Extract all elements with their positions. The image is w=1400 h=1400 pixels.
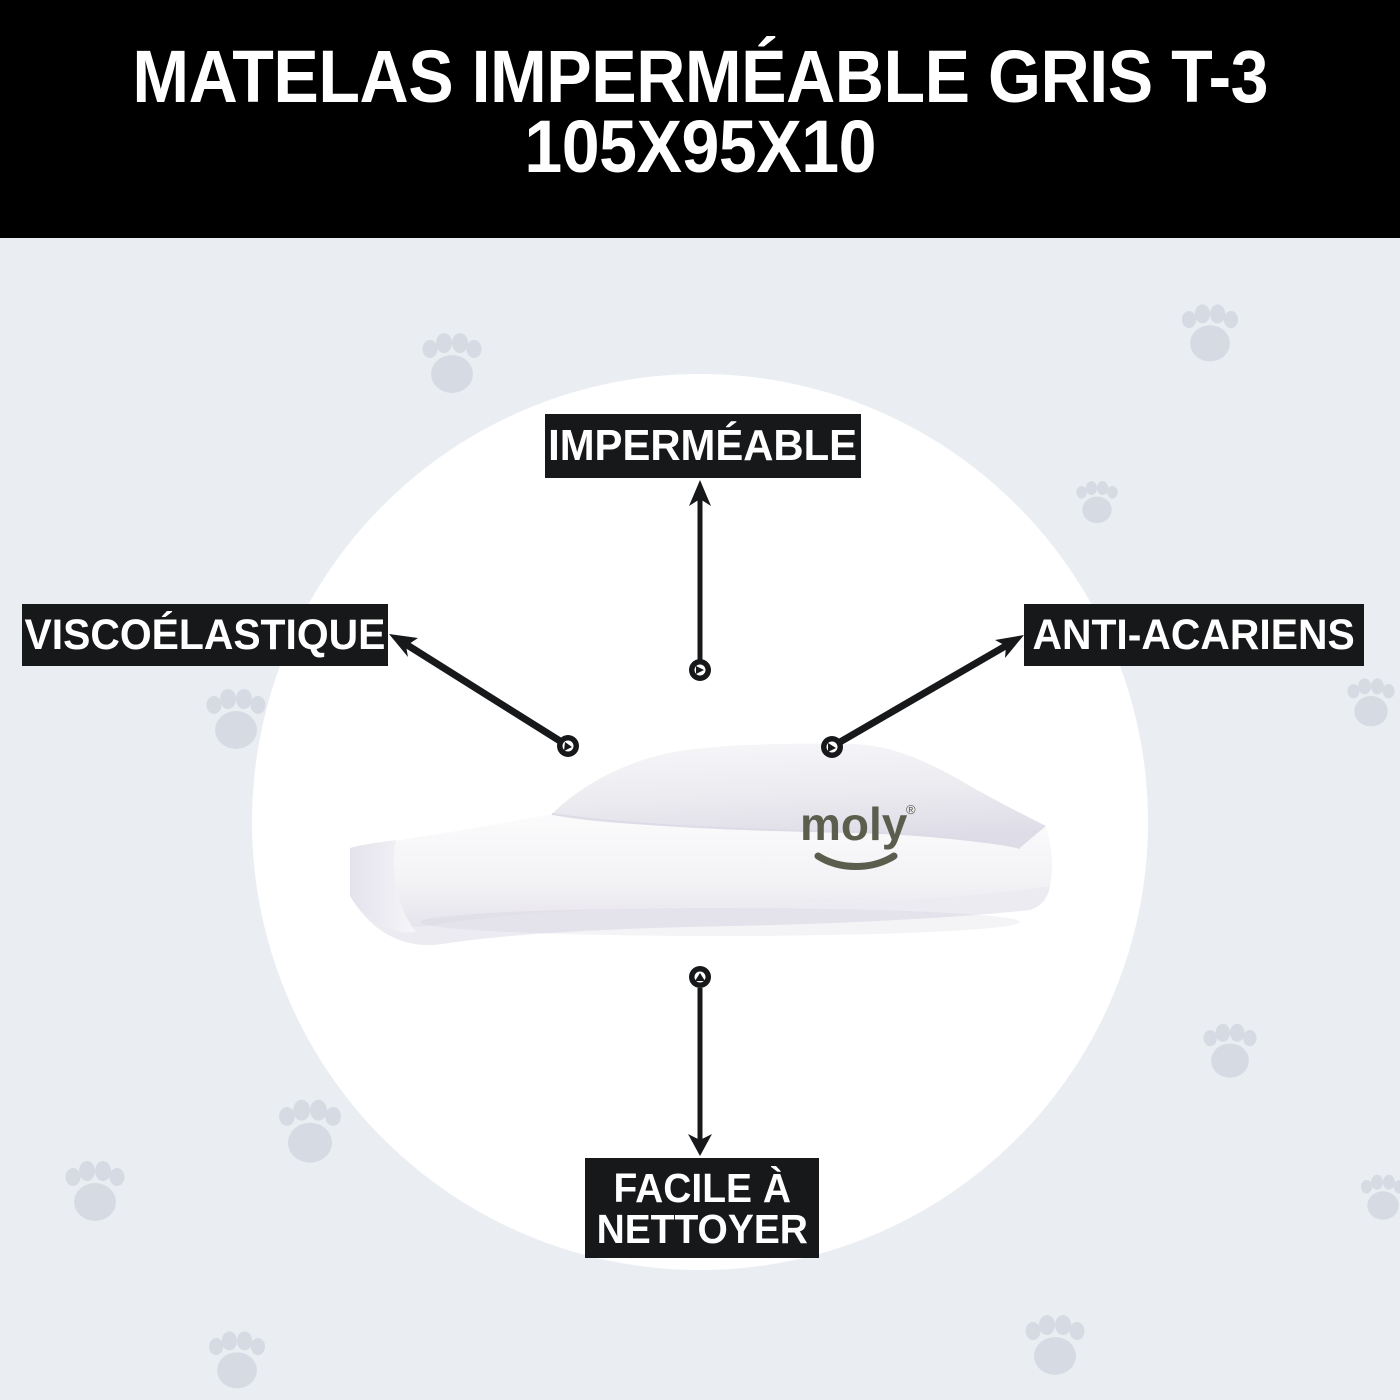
arrow-facile-a-nettoyer [688,966,712,1156]
callout-label-facile-a-nettoyer[interactable]: FACILE À NETTOYER [585,1158,819,1258]
callout-label-impermeable-text: IMPERMÉABLE [549,424,858,468]
callout-label-facile-a-nettoyer-text: FACILE À NETTOYER [596,1168,807,1250]
arrow-viscoelastique [389,634,579,757]
infographic-root: MATELAS IMPERMÉABLE GRIS T-3 105X95X10 [0,0,1400,1400]
callout-label-impermeable[interactable]: IMPERMÉABLE [545,414,861,478]
callout-label-anti-acariens[interactable]: ANTI-ACARIENS [1024,604,1364,666]
callout-label-viscoelastique[interactable]: VISCOÉLASTIQUE [22,604,388,666]
arrow-anti-acariens [821,635,1024,758]
arrow-impermeable [689,480,711,681]
callout-label-viscoelastique-text: VISCOÉLASTIQUE [25,614,386,657]
callout-label-anti-acariens-text: ANTI-ACARIENS [1033,614,1355,657]
